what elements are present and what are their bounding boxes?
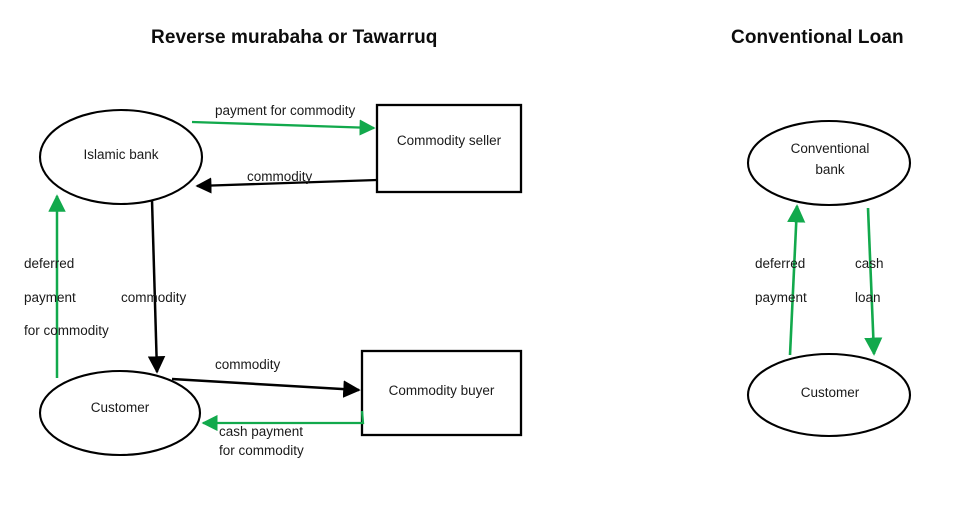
- edge-label-deferred-line2: payment: [24, 288, 76, 308]
- edge-label-cash-payment-line1: cash payment: [219, 422, 303, 442]
- node-label-commodity-seller: Commodity seller: [377, 131, 521, 150]
- edge-label-cash-loan-line2: loan: [855, 288, 881, 308]
- edge-bank-to-customer-commodity: [152, 200, 157, 372]
- edge-label-commodity-bank-to-customer: commodity: [121, 288, 186, 308]
- node-label-customer-left: Customer: [40, 398, 200, 417]
- page-title-conventional-loan: Conventional Loan: [731, 27, 904, 49]
- edge-customer-to-bank-deferred-payment: [790, 206, 797, 355]
- edge-label-payment-for-commodity: payment for commodity: [215, 101, 355, 121]
- edge-label-deferred-line3: for commodity: [24, 321, 109, 341]
- node-label-conventional-bank-line1: Conventional: [749, 139, 911, 158]
- edge-label-cash-loan-line1: cash: [855, 254, 884, 274]
- edge-customer-to-buyer-commodity: [172, 379, 359, 390]
- edge-label-deferred-right-line1: deferred: [755, 254, 805, 274]
- edge-bank-to-seller-payment: [192, 122, 374, 128]
- edge-label-deferred-right-line2: payment: [755, 288, 807, 308]
- node-label-conventional-bank-line2: bank: [749, 160, 911, 179]
- edge-label-cash-payment-line2: for commodity: [219, 441, 304, 461]
- node-label-islamic-bank: Islamic bank: [41, 145, 201, 164]
- node-label-customer-right: Customer: [749, 383, 911, 402]
- diagram-canvas: [0, 0, 960, 506]
- edge-label-commodity-seller-to-bank: commodity: [247, 167, 312, 187]
- edge-bank-to-customer-cash-loan: [868, 208, 874, 354]
- edge-label-deferred-line1: deferred: [24, 254, 74, 274]
- node-label-commodity-buyer: Commodity buyer: [362, 381, 521, 400]
- edge-label-commodity-customer-to-buyer: commodity: [215, 355, 280, 375]
- page-title-reverse-murabaha: Reverse murabaha or Tawarruq: [151, 27, 438, 49]
